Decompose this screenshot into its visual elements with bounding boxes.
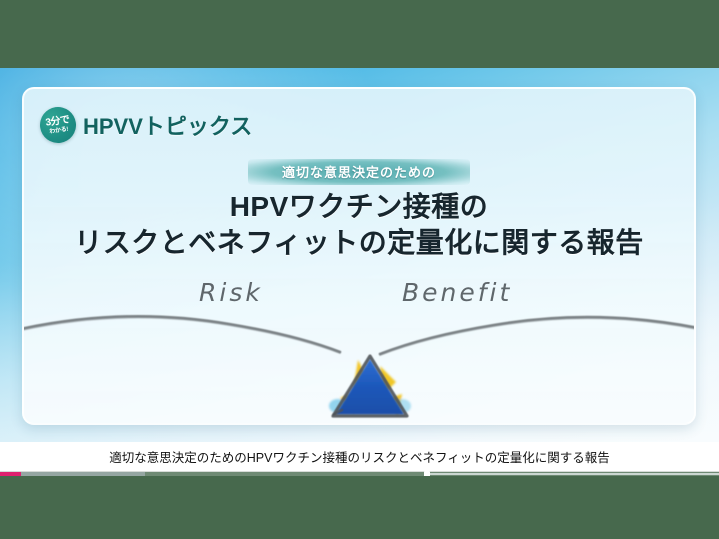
triangle-fulcrum-logo: [335, 358, 405, 415]
player-bottom-filler: [0, 476, 719, 539]
page-title: HPVワクチン接種の リスクとベネフィットの定量化に関する報告: [24, 189, 694, 261]
three-minute-badge-icon: 3分で わかる!: [38, 105, 79, 146]
headline-line-1: HPVワクチン接種の: [24, 189, 694, 225]
progress-track-remaining[interactable]: [430, 473, 719, 475]
risk-benefit-illustration: Risk Benefit: [24, 274, 696, 424]
balance-scale-graphic: [24, 274, 696, 424]
slide-brand-title: HPVVトピックス: [83, 109, 252, 141]
left-beam-arc: [24, 316, 340, 353]
eyebrow-banner: 適切な意思決定のための: [248, 159, 470, 185]
caption-text: 適切な意思決定のためのHPVワクチン接種のリスクとベネフィットの定量化に関する報…: [109, 447, 609, 466]
right-beam-arc: [380, 317, 696, 355]
badge-line-2: わかる!: [49, 126, 68, 135]
video-frame[interactable]: 3分で わかる! HPVVトピックス 適切な意思決定のための HPVワクチン接種…: [0, 68, 719, 442]
slide-card: 3分で わかる! HPVVトピックス 適切な意思決定のための HPVワクチン接種…: [22, 87, 696, 425]
slide-header: 3分で わかる! HPVVトピックス: [40, 107, 252, 143]
video-player[interactable]: 3分で わかる! HPVVトピックス 適切な意思決定のための HPVワクチン接種…: [0, 0, 719, 539]
caption-bar: 適切な意思決定のためのHPVワクチン接種のリスクとベネフィットの定量化に関する報…: [0, 442, 719, 472]
headline-line-2: リスクとベネフィットの定量化に関する報告: [24, 225, 694, 261]
